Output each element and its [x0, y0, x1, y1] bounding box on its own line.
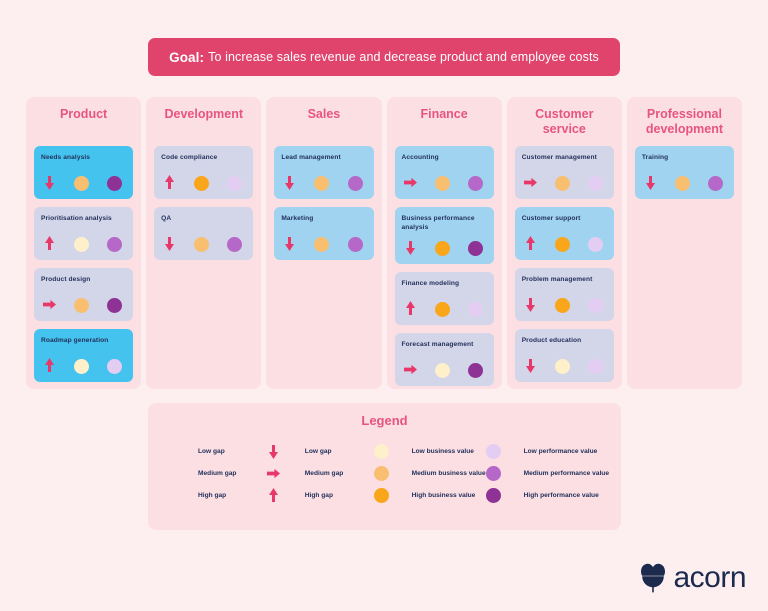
capability-card[interactable]: Marketing — [274, 207, 373, 260]
card-title: Finance modeling — [402, 279, 487, 288]
card-indicators — [161, 175, 246, 191]
arrow-right-icon — [267, 466, 280, 481]
business-value-dot — [435, 302, 450, 317]
board-column: SalesLead managementMarketing — [266, 97, 381, 389]
card-title: Product education — [522, 336, 607, 345]
legend-item: Low performance value — [486, 440, 609, 462]
legend-swatch — [160, 445, 190, 458]
legend-group: Low business valueMedium business valueH… — [374, 440, 486, 506]
arrow-up-icon — [524, 236, 537, 252]
card-title: Forecast management — [402, 340, 487, 349]
column-title: Development — [154, 107, 253, 141]
capability-card[interactable]: Product education — [515, 329, 614, 382]
board-column: Customer serviceCustomer managementCusto… — [507, 97, 622, 389]
capability-card[interactable]: Accounting — [395, 146, 494, 199]
legend-group: Low gapMedium gapHigh gap — [267, 440, 374, 506]
performance-value-dot — [107, 298, 122, 313]
acorn-logo: acorn — [640, 563, 746, 593]
capability-card[interactable]: Training — [635, 146, 734, 199]
arrow-right-icon — [404, 175, 417, 191]
legend-gap-swatch — [160, 467, 185, 480]
goal-label: Goal: — [169, 50, 204, 65]
legend-swatch — [374, 488, 404, 503]
arrow-up-icon — [404, 301, 417, 317]
arrow-down-icon — [283, 175, 296, 191]
capability-card[interactable]: Forecast management — [395, 333, 494, 386]
card-indicators — [161, 236, 246, 252]
arrow-down-icon — [43, 175, 56, 191]
arrow-up-icon — [163, 175, 176, 191]
capability-card[interactable]: Prioritisation analysis — [34, 207, 133, 260]
acorn-wordmark: acorn — [673, 563, 746, 593]
capability-card[interactable]: QA — [154, 207, 253, 260]
performance-value-dot — [588, 176, 603, 191]
card-title: Product design — [41, 275, 126, 284]
card-title: Prioritisation analysis — [41, 214, 126, 223]
board-column: FinanceAccountingBusiness performance an… — [387, 97, 502, 389]
legend-value-dot — [374, 488, 389, 503]
performance-value-dot — [468, 176, 483, 191]
legend-gap-swatch — [160, 445, 185, 458]
performance-value-dot — [227, 176, 242, 191]
capability-card[interactable]: Business performance analysis — [395, 207, 494, 264]
card-title: Training — [642, 153, 727, 162]
performance-value-dot — [588, 298, 603, 313]
arrow-up-icon — [43, 236, 56, 252]
performance-value-dot — [468, 363, 483, 378]
card-title: Problem management — [522, 275, 607, 284]
legend-label: Low performance value — [524, 448, 598, 455]
card-title: Roadmap generation — [41, 336, 126, 345]
arrow-right-icon — [524, 175, 537, 191]
legend-value-dot — [374, 466, 389, 481]
card-indicators — [402, 175, 487, 191]
legend-swatch — [374, 466, 404, 481]
card-title: Business performance analysis — [402, 214, 487, 232]
business-value-dot — [194, 237, 209, 252]
card-indicators — [41, 175, 126, 191]
business-value-dot — [675, 176, 690, 191]
capability-card[interactable]: Needs analysis — [34, 146, 133, 199]
capability-card[interactable]: Roadmap generation — [34, 329, 133, 382]
arrow-up-icon — [267, 488, 280, 503]
legend-item: High business value — [374, 484, 486, 506]
acorn-icon — [640, 563, 666, 593]
capability-card[interactable]: Lead management — [274, 146, 373, 199]
legend-item: High gap — [267, 484, 374, 506]
business-value-dot — [435, 241, 450, 256]
legend-label: Low gap — [198, 448, 225, 455]
legend-item: High gap — [160, 484, 267, 506]
card-indicators — [402, 240, 487, 256]
column-title: Finance — [395, 107, 494, 141]
arrow-down-icon — [524, 297, 537, 313]
business-value-dot — [555, 176, 570, 191]
board-column: DevelopmentCode complianceQA — [146, 97, 261, 389]
business-value-dot — [314, 176, 329, 191]
column-title: Sales — [274, 107, 373, 141]
legend-value-dot — [486, 488, 501, 503]
performance-value-dot — [107, 359, 122, 374]
legend-swatch — [267, 466, 297, 481]
board-column: Professional developmentTraining — [627, 97, 742, 389]
legend-item: Medium gap — [160, 462, 267, 484]
arrow-down-icon — [267, 444, 280, 459]
performance-value-dot — [468, 302, 483, 317]
card-title: Needs analysis — [41, 153, 126, 162]
legend-item: Medium performance value — [486, 462, 609, 484]
business-value-dot — [555, 359, 570, 374]
card-indicators — [522, 175, 607, 191]
legend-item: Medium business value — [374, 462, 486, 484]
legend-item: Low gap — [267, 440, 374, 462]
business-value-dot — [74, 237, 89, 252]
business-value-dot — [435, 363, 450, 378]
legend-swatch — [374, 444, 404, 459]
legend-label: Low gap — [305, 448, 332, 455]
legend-item: Low business value — [374, 440, 486, 462]
column-title: Professional development — [635, 107, 734, 141]
arrow-up-icon — [43, 358, 56, 374]
legend-label: High gap — [305, 492, 333, 499]
card-title: Customer support — [522, 214, 607, 223]
card-indicators — [41, 297, 126, 313]
card-title: Customer management — [522, 153, 607, 162]
legend-swatch — [486, 444, 516, 459]
legend-label: High performance value — [524, 492, 599, 499]
legend-item: Low gap — [160, 440, 267, 462]
legend-swatch — [486, 466, 516, 481]
legend-swatch — [267, 488, 297, 503]
business-value-dot — [555, 237, 570, 252]
arrow-right-icon — [404, 362, 417, 378]
card-title: Code compliance — [161, 153, 246, 162]
business-value-dot — [435, 176, 450, 191]
card-indicators — [402, 362, 487, 378]
arrow-down-icon — [644, 175, 657, 191]
legend-label: Medium gap — [198, 470, 236, 477]
capability-board: ProductNeeds analysisPrioritisation anal… — [26, 97, 742, 389]
legend-gap-swatch — [160, 489, 185, 502]
legend-label: Medium business value — [412, 470, 486, 477]
column-title: Product — [34, 107, 133, 141]
performance-value-dot — [107, 237, 122, 252]
capability-card[interactable]: Customer management — [515, 146, 614, 199]
legend-swatch — [160, 467, 190, 480]
legend-item: Medium gap — [267, 462, 374, 484]
business-value-dot — [555, 298, 570, 313]
performance-value-dot — [708, 176, 723, 191]
capability-card[interactable]: Customer support — [515, 207, 614, 260]
legend-label: High gap — [198, 492, 226, 499]
board-column: ProductNeeds analysisPrioritisation anal… — [26, 97, 141, 389]
legend-swatch — [160, 489, 190, 502]
legend-label: Low business value — [412, 448, 474, 455]
capability-card[interactable]: Finance modeling — [395, 272, 494, 325]
legend-panel: Legend Low gapMedium gapHigh gapLow gapM… — [148, 403, 621, 530]
arrow-down-icon — [163, 236, 176, 252]
performance-value-dot — [468, 241, 483, 256]
legend-item: High performance value — [486, 484, 609, 506]
card-indicators — [522, 297, 607, 313]
legend-label: Medium performance value — [524, 470, 609, 477]
legend-groups: Low gapMedium gapHigh gapLow gapMedium g… — [148, 440, 621, 506]
card-indicators — [642, 175, 727, 191]
performance-value-dot — [348, 237, 363, 252]
capability-card[interactable]: Product design — [34, 268, 133, 321]
business-value-dot — [74, 176, 89, 191]
card-indicators — [41, 236, 126, 252]
arrow-right-icon — [43, 297, 56, 313]
card-indicators — [402, 301, 487, 317]
card-title: Accounting — [402, 153, 487, 162]
arrow-down-icon — [283, 236, 296, 252]
legend-group: Low gapMedium gapHigh gap — [160, 440, 267, 506]
arrow-down-icon — [404, 240, 417, 256]
arrow-down-icon — [524, 358, 537, 374]
business-value-dot — [194, 176, 209, 191]
card-title: QA — [161, 214, 246, 223]
business-value-dot — [314, 237, 329, 252]
legend-label: Medium gap — [305, 470, 343, 477]
goal-text: To increase sales revenue and decrease p… — [208, 50, 599, 64]
card-indicators — [281, 236, 366, 252]
legend-label: High business value — [412, 492, 476, 499]
legend-group: Low performance valueMedium performance … — [486, 440, 609, 506]
card-indicators — [522, 236, 607, 252]
business-value-dot — [74, 298, 89, 313]
performance-value-dot — [588, 359, 603, 374]
performance-value-dot — [348, 176, 363, 191]
legend-value-dot — [486, 466, 501, 481]
card-title: Lead management — [281, 153, 366, 162]
legend-value-dot — [486, 444, 501, 459]
capability-card[interactable]: Code compliance — [154, 146, 253, 199]
card-indicators — [281, 175, 366, 191]
legend-title: Legend — [148, 413, 621, 428]
performance-value-dot — [227, 237, 242, 252]
capability-card[interactable]: Problem management — [515, 268, 614, 321]
card-indicators — [522, 358, 607, 374]
column-title: Customer service — [515, 107, 614, 141]
performance-value-dot — [107, 176, 122, 191]
legend-swatch — [267, 444, 297, 459]
goal-banner: Goal: To increase sales revenue and decr… — [148, 38, 620, 76]
card-indicators — [41, 358, 126, 374]
legend-value-dot — [374, 444, 389, 459]
performance-value-dot — [588, 237, 603, 252]
business-value-dot — [74, 359, 89, 374]
card-title: Marketing — [281, 214, 366, 223]
legend-swatch — [486, 488, 516, 503]
